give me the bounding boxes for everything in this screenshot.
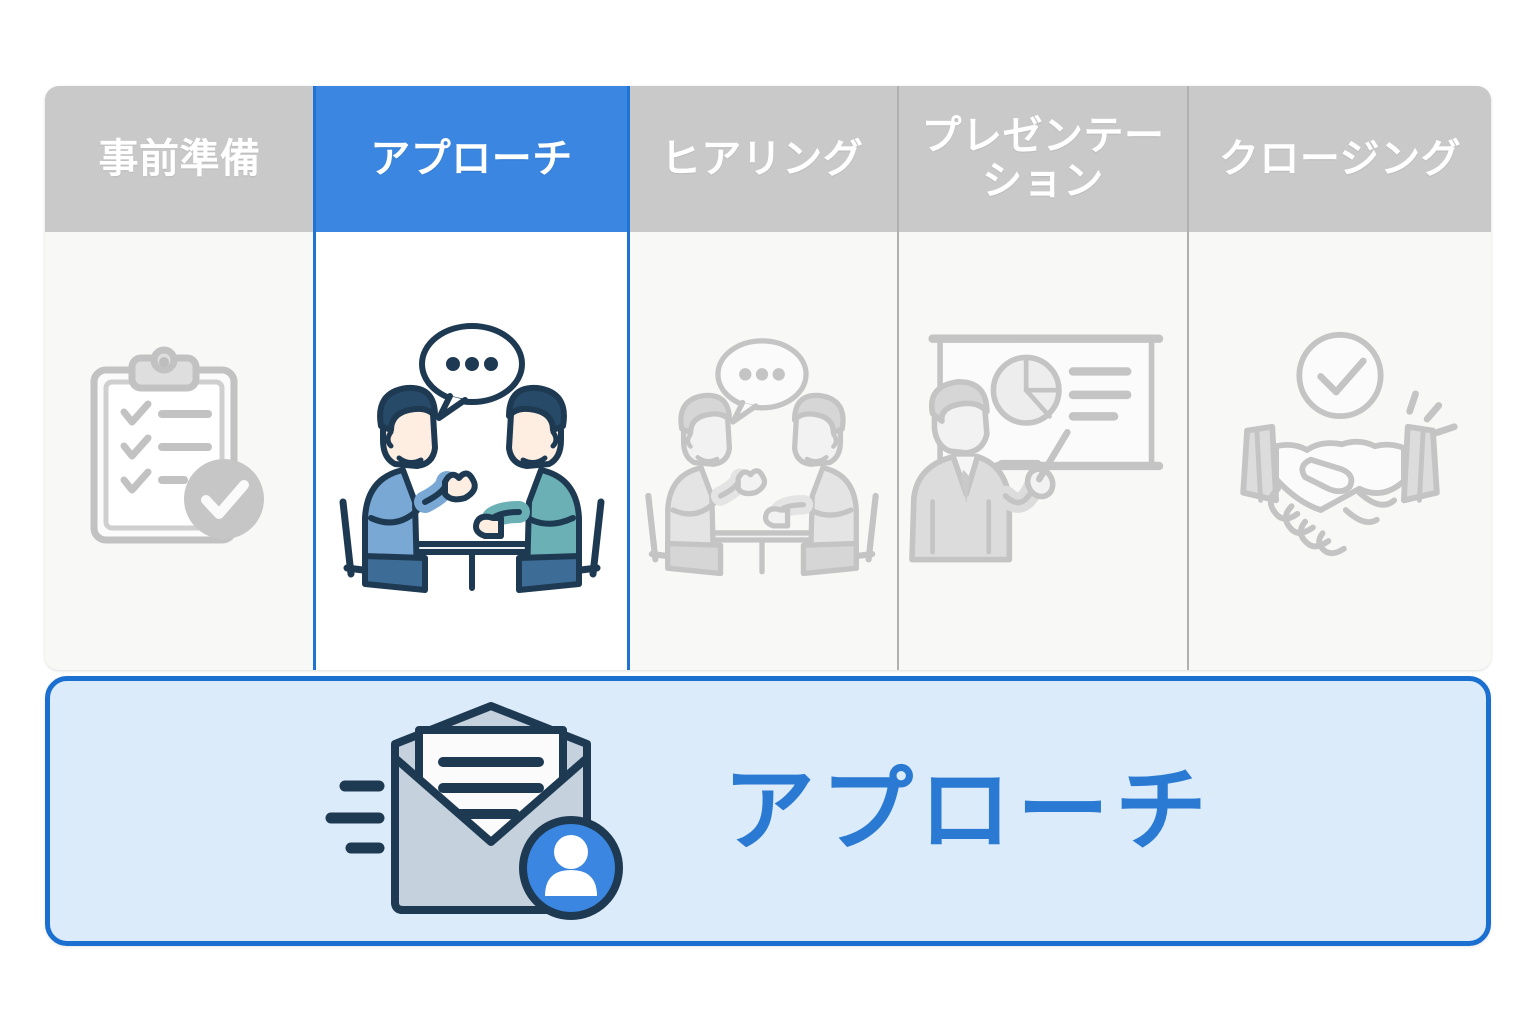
stage-illustration-hearing [627,232,897,670]
banner-stage-label: アプローチ [723,765,1213,857]
stage-label-preparation: 事前準備 [99,137,261,182]
stage-label-closing: クロージング [1219,137,1461,182]
clipboard-check-icon [80,346,280,556]
handshake-check-icon [1204,330,1476,572]
stage-column-approach[interactable]: アプローチ [316,86,627,670]
stage-illustration-approach [316,232,627,670]
banner-illustration [323,696,653,926]
stage-column-hearing[interactable]: ヒアリング [627,86,899,670]
stage-header-preparation: 事前準備 [45,86,314,232]
stage-label-approach: アプローチ [370,137,573,182]
stage-header-hearing: ヒアリング [627,86,897,232]
stage-label-presentation: プレゼンテーション [909,114,1177,204]
email-envelope-contact-icon [323,696,653,926]
stage-illustration-closing [1189,232,1491,670]
sales-process-stage-table: 事前準備 [45,86,1491,670]
slide-canvas: 事前準備 [0,0,1536,1024]
stage-header-closing: クロージング [1189,86,1491,232]
stage-illustration-preparation [45,232,314,670]
stage-column-preparation[interactable]: 事前準備 [45,86,316,670]
stage-label-hearing: ヒアリング [661,137,864,182]
stage-header-approach: アプローチ [316,86,627,232]
stage-column-presentation[interactable]: プレゼンテーション [899,86,1189,670]
stage-column-closing[interactable]: クロージング [1189,86,1491,670]
stage-illustration-presentation [899,232,1187,670]
current-stage-banner[interactable]: アプローチ [45,676,1491,946]
two-people-meeting-icon [636,316,888,586]
two-people-meeting-icon [329,306,615,596]
stage-header-presentation: プレゼンテーション [899,86,1187,232]
presenter-whiteboard-icon [912,326,1174,576]
